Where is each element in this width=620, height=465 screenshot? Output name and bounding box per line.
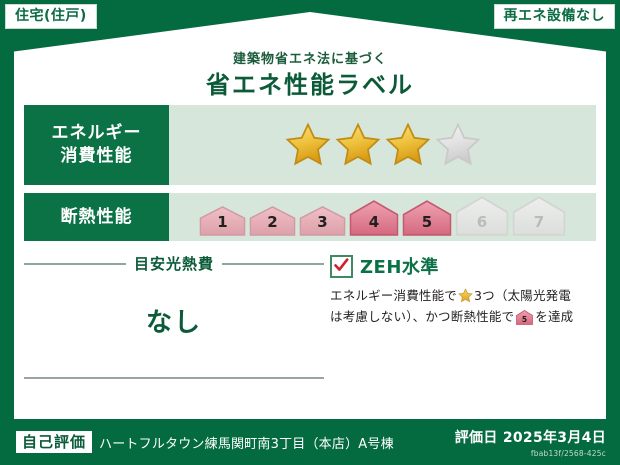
building-type-tag: 住宅(住戸)	[6, 5, 96, 28]
utility-cost-block: 目安光熱費 なし	[24, 253, 324, 379]
house-badge-icon-inline: 5	[516, 310, 533, 325]
utility-cost-divider	[24, 377, 324, 379]
zeh-description: エネルギー消費性能で3つ（太陽光発電 は考慮しない）、かつ断熱性能で5を達成	[330, 286, 596, 327]
insulation-level-6: 6	[455, 196, 509, 236]
self-evaluation-badge: 自己評価	[16, 431, 92, 454]
zeh-desc-part3: は考慮しない）、かつ断熱性能で	[330, 309, 514, 324]
energy-performance-value	[169, 105, 596, 185]
insulation-level-number: 2	[249, 213, 296, 231]
energy-performance-label: 住宅(住戸) 再エネ設備なし 建築物省エネ法に基づく 省エネ性能ラベル エネルギ…	[0, 0, 620, 465]
evaluation-date-value: 2025年3月4日	[503, 430, 606, 446]
insulation-level-number: 7	[512, 213, 566, 231]
insulation-performance-row: 断熱性能 1234567	[24, 193, 596, 241]
insulation-level-3: 3	[299, 206, 346, 236]
star-icon-empty	[434, 122, 482, 168]
check-icon	[333, 257, 350, 274]
insulation-level-7: 7	[512, 196, 566, 236]
zeh-heading: ZEH水準	[330, 253, 596, 279]
insulation-performance-value: 1234567	[169, 193, 596, 241]
evaluation-meta: 評価日 2025年3月4日 fbab13f/2568-425c	[455, 427, 606, 458]
insulation-level-2: 2	[249, 206, 296, 236]
utility-cost-title-text: 目安光熱費	[134, 253, 214, 274]
evaluation-date: 評価日 2025年3月4日	[455, 427, 606, 447]
lower-section: 目安光熱費 なし ZEH水準 エネルギー消費性能で3つ（太陽光発電 は考慮しな	[24, 253, 596, 379]
insulation-level-1: 1	[199, 206, 246, 236]
star-icon-inline	[458, 288, 473, 303]
insulation-level-5: 5	[402, 200, 452, 236]
star-icon-filled	[334, 122, 382, 168]
evaluation-id: fbab13f/2568-425c	[455, 449, 606, 458]
insulation-level-scale: 1234567	[199, 196, 566, 238]
label-footer: 自己評価 ハートフルタウン練馬関町南3丁目（本店）A号棟 評価日 2025年3月…	[0, 419, 620, 465]
insulation-performance-label: 断熱性能	[24, 193, 169, 241]
zeh-desc-part1: エネルギー消費性能で	[330, 288, 457, 303]
zeh-desc-part4: を達成	[535, 309, 573, 324]
insulation-level-number: 1	[199, 213, 246, 231]
zeh-desc-part2: 3つ（太陽光発電	[474, 288, 571, 303]
page-title: 省エネ性能ラベル	[14, 65, 606, 100]
insulation-level-4: 4	[349, 200, 399, 236]
insulation-level-number: 4	[349, 213, 399, 231]
property-address: ハートフルタウン練馬関町南3丁目（本店）A号棟	[99, 433, 394, 452]
energy-performance-row: エネルギー 消費性能	[24, 105, 596, 185]
svg-text:5: 5	[522, 315, 527, 324]
utility-cost-title: 目安光熱費	[24, 253, 324, 274]
label-body-card: エネルギー 消費性能 断熱性能 1234567 目安光熱費 なし	[14, 96, 606, 419]
insulation-level-number: 6	[455, 213, 509, 231]
star-rating	[284, 122, 482, 168]
energy-label-line1: エネルギー	[52, 123, 142, 143]
star-icon-filled	[384, 122, 432, 168]
insulation-level-number: 3	[299, 213, 346, 231]
energy-label-line2: 消費性能	[61, 146, 133, 166]
evaluation-date-label: 評価日	[455, 430, 498, 446]
zeh-checkbox	[330, 255, 353, 278]
energy-performance-label: エネルギー 消費性能	[24, 105, 169, 185]
zeh-block: ZEH水準 エネルギー消費性能で3つ（太陽光発電 は考慮しない）、かつ断熱性能で…	[324, 253, 596, 379]
utility-cost-value: なし	[24, 302, 324, 339]
insulation-level-number: 5	[402, 213, 452, 231]
renewable-equipment-tag: 再エネ設備なし	[495, 5, 615, 28]
zeh-title: ZEH水準	[360, 253, 439, 279]
star-icon-filled	[284, 122, 332, 168]
